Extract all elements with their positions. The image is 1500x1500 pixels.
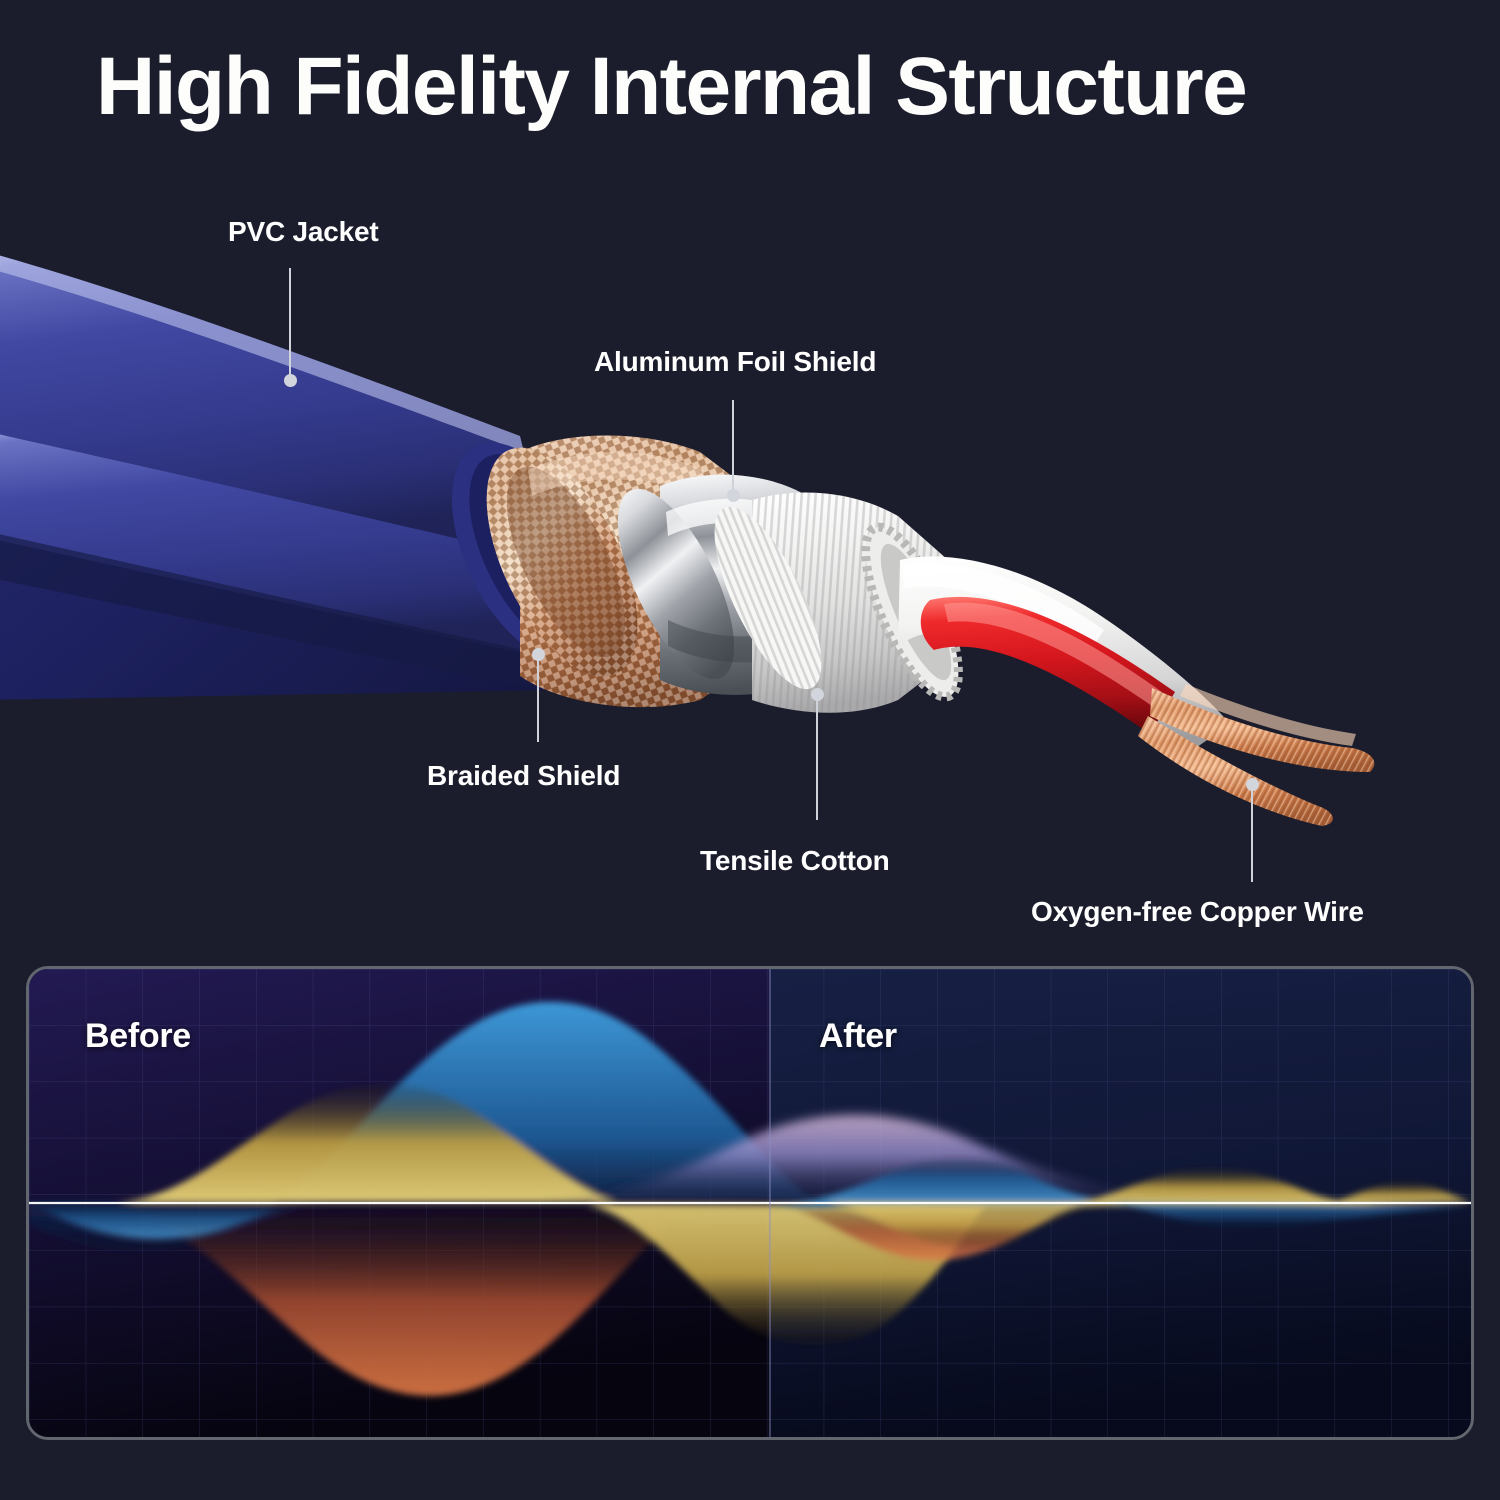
callout-label-tensile-cotton: Tensile Cotton [700, 845, 890, 877]
leader-dot-aluminum-foil-shield [727, 489, 740, 502]
leader-line-braided-shield [537, 654, 539, 742]
leader-dot-braided-shield [532, 648, 545, 661]
before-label: Before [85, 1017, 191, 1056]
callout-label-oxygen-free-copper-wire: Oxygen-free Copper Wire [1031, 896, 1364, 928]
leader-line-oxygen-free-copper-wire [1251, 784, 1253, 882]
waveform-chart [29, 969, 1471, 1437]
leader-dot-oxygen-free-copper-wire [1246, 778, 1259, 791]
poster-root: High Fidelity Internal Structure [0, 0, 1500, 1500]
callout-label-aluminum-foil-shield: Aluminum Foil Shield [594, 346, 876, 378]
cable-cutaway-illustration [0, 0, 1500, 960]
callout-label-braided-shield: Braided Shield [427, 760, 620, 792]
after-label: After [819, 1017, 897, 1056]
leader-dot-pvc-jacket [284, 374, 297, 387]
before-after-comparison-panel: Before After [26, 966, 1474, 1440]
leader-line-pvc-jacket [289, 268, 291, 378]
leader-line-tensile-cotton [816, 694, 818, 820]
leader-dot-tensile-cotton [811, 688, 824, 701]
callout-label-pvc-jacket: PVC Jacket [228, 216, 379, 248]
leader-line-aluminum-foil-shield [732, 400, 734, 492]
